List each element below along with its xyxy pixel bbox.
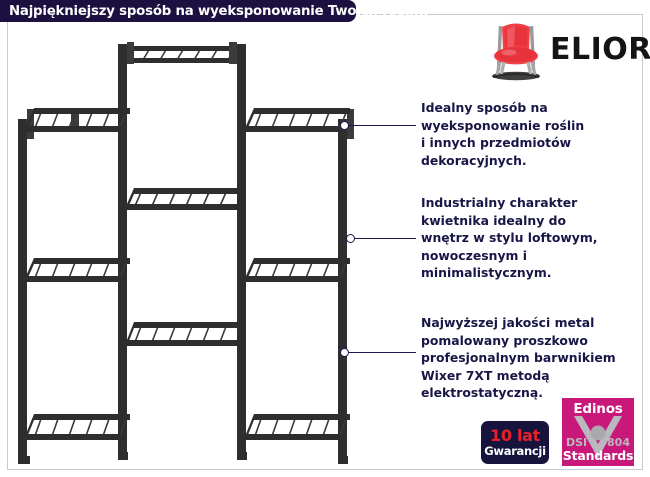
foot-left [20, 456, 30, 464]
foot-right [338, 456, 348, 464]
standards-bottom-label: Standards [562, 448, 634, 463]
foot-center-right [237, 452, 247, 460]
feature-2-line-4: nowoczesnym i [421, 247, 646, 265]
marketing-banner-page: Najpiękniejszy sposób na wyeksponowanie … [0, 0, 650, 477]
feature-3-line-1: Najwyższej jakości metal [421, 314, 646, 332]
leader-dot-2 [346, 234, 355, 243]
shelf-right-mid [246, 258, 350, 282]
post-center-right-back [229, 42, 237, 64]
post-center-left-back [127, 42, 134, 64]
plant-stand-illustration [8, 24, 398, 464]
post-right-outer-front [338, 119, 347, 464]
shelf-right-top [246, 108, 350, 132]
brand-name: ELIOR [550, 32, 650, 67]
leader-dot-3 [340, 348, 349, 357]
feature-3-line-2: pomalowany proszkowo [421, 332, 646, 350]
feature-2-line-3: wnętrz w stylu loftowym, [421, 229, 646, 247]
feature-2-line-5: minimalistycznym. [421, 264, 646, 282]
red-chair-icon [484, 20, 548, 82]
shelf-center-mid [127, 188, 246, 210]
leader-dot-1 [340, 121, 349, 130]
feature-1-line-2: wyeksponowanie roślin [421, 117, 646, 135]
shelf-center-top [118, 46, 245, 63]
shelf-right-bottom [246, 414, 350, 440]
feature-2-line-1: Industrialny charakter [421, 194, 646, 212]
shelf-center-low [127, 322, 246, 346]
feature-1-line-3: i innych przedmiotów [421, 134, 646, 152]
post-center-left-front [118, 44, 127, 459]
feature-3-line-4: Wixer 7XT metodą [421, 367, 646, 385]
feature-1-line-1: Idealny sposób na [421, 99, 646, 117]
warranty-badge: 10 lat Gwarancji [481, 421, 549, 464]
feature-3-line-3: profesjonalnym barwnikiem [421, 349, 646, 367]
foot-center-left [118, 452, 128, 460]
feature-1-line-4: dekoracyjnych. [421, 152, 646, 170]
feature-2-line-2: kwietnika idealny do [421, 212, 646, 230]
warranty-years: 10 lat [490, 428, 540, 444]
header-banner-text: Najpiękniejszy sposób na wyeksponowanie … [9, 4, 429, 19]
standards-title: Edinos [562, 401, 634, 417]
product-image [8, 24, 398, 464]
warranty-label: Gwarancji [484, 444, 545, 458]
standards-badge: Edinos DSI 804 Standards [562, 398, 634, 466]
feature-text-2: Industrialny charakter kwietnika idealny… [421, 194, 646, 282]
post-left-outer-front [18, 119, 27, 464]
header-banner: Najpiękniejszy sposób na wyeksponowanie … [0, 0, 356, 22]
feature-text-3: Najwyższej jakości metal pomalowany pros… [421, 314, 646, 402]
feature-text-1: Idealny sposób na wyeksponowanie roślin … [421, 99, 646, 169]
post-center-right-front [237, 44, 246, 459]
brand-logo: ELIOR [484, 20, 644, 82]
